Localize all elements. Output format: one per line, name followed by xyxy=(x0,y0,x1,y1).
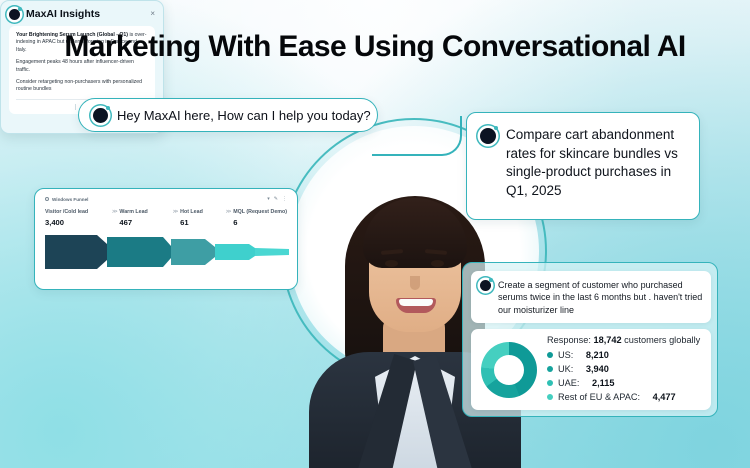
legend-item-uk: UK: 3,940 xyxy=(547,362,703,376)
legend-dot-icon xyxy=(547,352,553,358)
funnel-stage-row: Visitor /Cold lead 3,400 >> Warm Lead 46… xyxy=(45,209,287,227)
poster-canvas: Marketing With Ease Using Conversational… xyxy=(0,0,750,468)
legend-dot-icon xyxy=(547,366,553,372)
edit-icon[interactable]: ✎ xyxy=(274,196,278,202)
close-icon[interactable]: × xyxy=(150,10,155,18)
response-headline: Response: 18,742 customers globally xyxy=(547,335,703,345)
prompt-segment-text: Create a segment of customer who purchas… xyxy=(498,279,703,323)
funnel-title-text: Windows Funnel xyxy=(52,197,88,202)
clock-icon xyxy=(45,197,49,201)
insight-paragraph-3: Consider retargeting non-purchasers with… xyxy=(16,79,148,94)
legend-item-rest: Rest of EU & APAC: 4,477 xyxy=(547,390,703,404)
greeting-connector xyxy=(372,116,462,156)
funnel-stage-1: Visitor /Cold lead 3,400 xyxy=(45,209,109,227)
insights-title: MaxAI Insights xyxy=(26,8,100,20)
funnel-stage-4: MQL (Request Demo) 6 xyxy=(233,209,287,227)
segment-response-panel: Create a segment of customer who purchas… xyxy=(462,262,718,417)
funnel-graphic xyxy=(45,233,287,271)
stage-separator-icon: >> xyxy=(223,209,233,215)
stage-separator-icon: >> xyxy=(109,209,119,215)
funnel-stage-2: Warm Lead 467 xyxy=(119,209,169,227)
funnel-header: Windows Funnel ▾ ✎ ⋮ xyxy=(45,196,287,202)
funnel-title: Windows Funnel xyxy=(45,197,88,202)
prompt-cart-text: Compare cart abandonment rates for skinc… xyxy=(506,126,686,219)
response-card: Response: 18,742 customers globally US: … xyxy=(471,329,711,410)
greeting-text: Hey MaxAI here, How can I help you today… xyxy=(117,108,371,123)
prompt-card-cart-abandonment[interactable]: Compare cart abandonment rates for skinc… xyxy=(466,112,700,220)
insights-header: MaxAI Insights × xyxy=(9,8,155,20)
funnel-shape xyxy=(45,233,289,271)
legend-dot-icon xyxy=(547,394,553,400)
funnel-toolbar[interactable]: ▾ ✎ ⋮ xyxy=(267,196,287,202)
ai-avatar-icon xyxy=(93,108,108,123)
greeting-bubble[interactable]: Hey MaxAI here, How can I help you today… xyxy=(78,98,378,132)
legend-item-us: US: 8,210 xyxy=(547,348,703,362)
legend-item-uae: UAE: 2,115 xyxy=(547,376,703,390)
ai-avatar-icon xyxy=(480,128,496,144)
ai-avatar-icon xyxy=(9,9,20,20)
filter-icon[interactable]: ▾ xyxy=(267,196,270,202)
prompt-card-segment[interactable]: Create a segment of customer who purchas… xyxy=(471,271,711,323)
funnel-stage-3: Hot Lead 61 xyxy=(180,209,223,227)
donut-chart xyxy=(481,342,537,398)
funnel-card: Windows Funnel ▾ ✎ ⋮ Visitor /Cold lead … xyxy=(34,188,298,290)
page-title: Marketing With Ease Using Conversational… xyxy=(0,30,750,64)
more-icon[interactable]: ⋮ xyxy=(282,196,287,202)
response-legend: Response: 18,742 customers globally US: … xyxy=(547,335,703,405)
ai-avatar-icon xyxy=(480,280,491,291)
stage-separator-icon: >> xyxy=(170,209,180,215)
legend-dot-icon xyxy=(547,380,553,386)
